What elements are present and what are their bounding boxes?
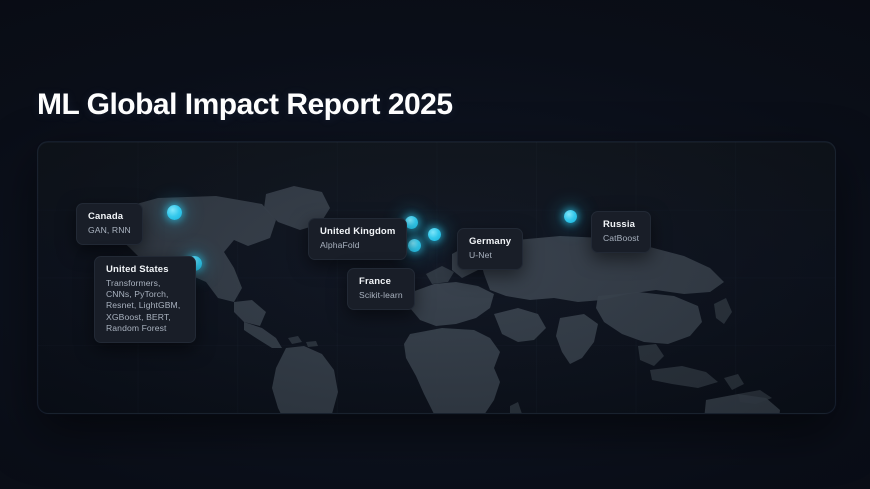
tooltip-france[interactable]: France Scikit-learn: [347, 268, 415, 310]
report-page: ML Global Impact Report 2025: [0, 0, 870, 489]
tooltip-russia[interactable]: Russia CatBoost: [591, 211, 651, 253]
tooltip-canada[interactable]: Canada GAN, RNN: [76, 203, 143, 245]
map-marker-russia[interactable]: [564, 210, 577, 223]
tooltip-models: Scikit-learn: [359, 290, 403, 301]
tooltip-models: Transformers, CNNs, PyTorch, Resnet, Lig…: [106, 278, 184, 334]
map-marker-germany[interactable]: [428, 228, 441, 241]
map-marker-canada[interactable]: [167, 205, 182, 220]
tooltip-country-name: Germany: [469, 236, 511, 248]
tooltip-germany[interactable]: Germany U-Net: [457, 228, 523, 270]
tooltip-country-name: Canada: [88, 211, 131, 223]
tooltip-country-name: United States: [106, 264, 184, 276]
map-marker-france[interactable]: [408, 239, 421, 252]
page-title: ML Global Impact Report 2025: [37, 88, 453, 122]
tooltip-country-name: France: [359, 276, 403, 288]
landmasses: [108, 186, 814, 413]
tooltip-country-name: Russia: [603, 219, 639, 231]
tooltip-country-name: United Kingdom: [320, 226, 395, 238]
tooltip-models: U-Net: [469, 250, 511, 261]
tooltip-models: CatBoost: [603, 233, 639, 244]
tooltip-united-states[interactable]: United States Transformers, CNNs, PyTorc…: [94, 256, 196, 343]
tooltip-models: AlphaFold: [320, 240, 395, 251]
tooltip-united-kingdom[interactable]: United Kingdom AlphaFold: [308, 218, 407, 260]
tooltip-models: GAN, RNN: [88, 225, 131, 236]
